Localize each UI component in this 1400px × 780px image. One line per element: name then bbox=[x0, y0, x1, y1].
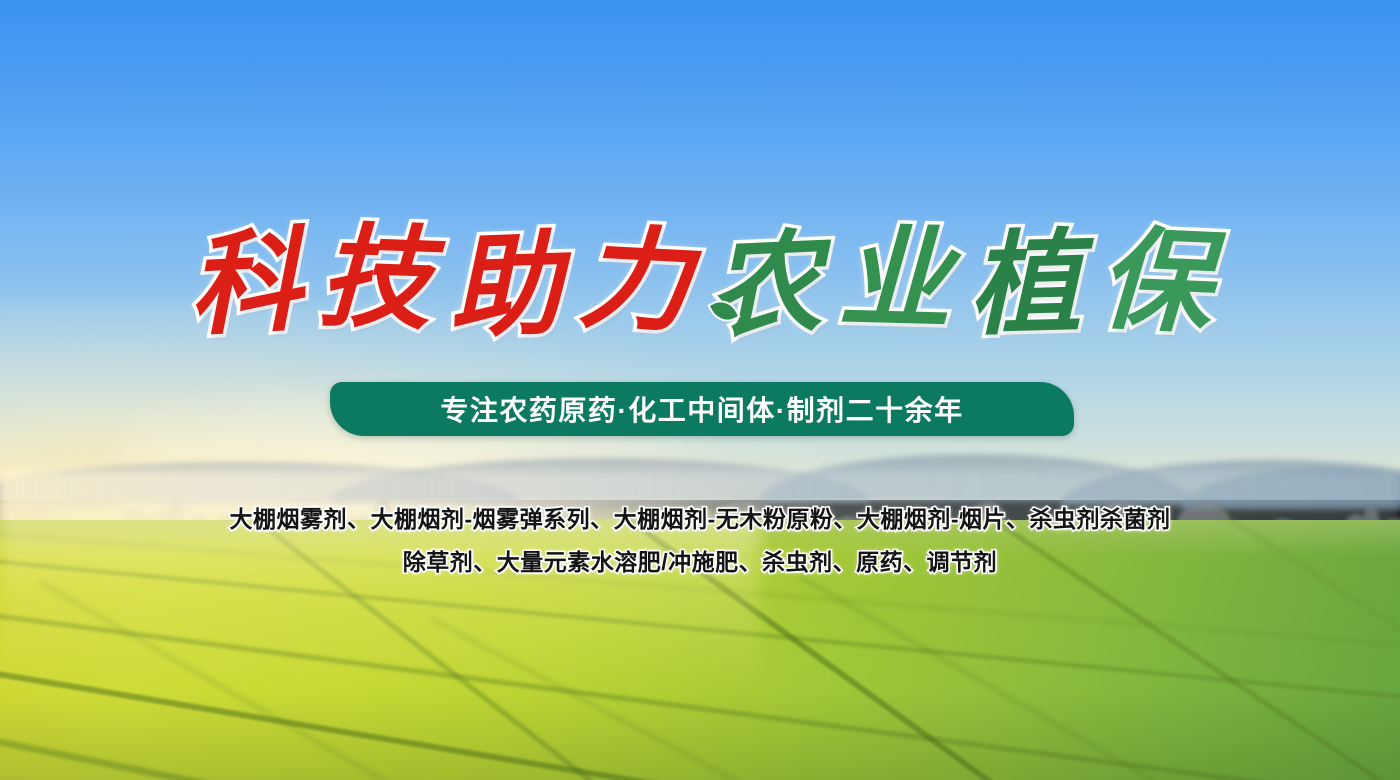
subtitle-pill: 专注农药原药·化工中间体·制剂二十余年 bbox=[330, 382, 1074, 436]
promo-banner: 科技助力农业植保 专注农药原药·化工中间体·制剂二十余年 大棚烟雾剂、大棚烟剂-… bbox=[0, 0, 1400, 780]
subtitle-text: 专注农药原药·化工中间体·制剂二十余年 bbox=[440, 389, 963, 429]
field-sunlight-wash bbox=[0, 512, 760, 692]
field-foreground-shade bbox=[0, 690, 1400, 780]
